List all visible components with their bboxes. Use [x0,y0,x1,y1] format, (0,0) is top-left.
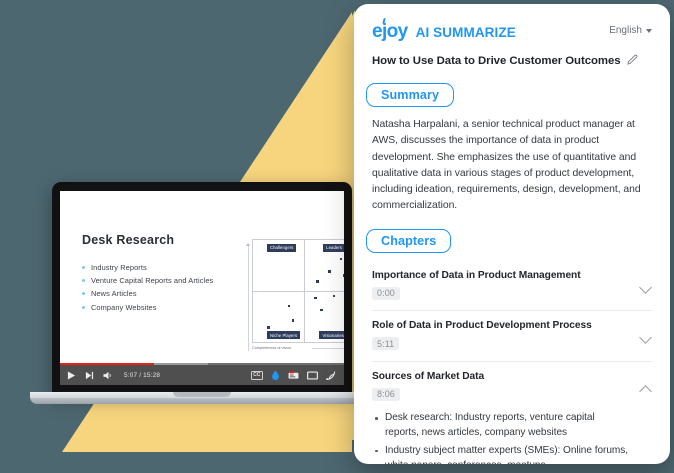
ejoy-logo-text: ejoy [372,21,408,42]
chapter-timestamp[interactable]: 8:06 [372,388,400,401]
settings-icon[interactable] [288,371,299,380]
quadrant-label-visionaries: Visionaries [319,331,344,339]
quadrant-label-leaders: Leaders [323,244,344,252]
chevron-down-icon[interactable] [639,331,652,344]
volume-icon[interactable] [103,371,113,380]
cast-icon[interactable] [326,371,337,380]
laptop-notch [173,392,231,397]
brand: ejoy AI SUMMARIZE [372,22,516,41]
chapter-title: Role of Data in Product Development Proc… [372,320,630,331]
next-track-icon[interactable] [85,371,94,380]
chapter-timestamp[interactable]: 0:00 [372,287,400,300]
theater-mode-icon[interactable] [307,371,318,380]
summary-section: Summary Natasha Harpalani, a senior tech… [372,83,652,215]
chart-data-point [328,270,331,273]
language-selector-label: English [609,25,642,36]
video-title: How to Use Data to Drive Customer Outcom… [372,55,621,67]
chart-x-axis-label: Completeness of vision [252,346,291,350]
captions-icon[interactable]: CC [251,371,263,380]
chart-data-point [340,258,343,261]
chapter-timestamp[interactable]: 5:11 [372,337,399,350]
chapter-bullet: Desk research: Industry reports, venture… [372,411,630,441]
chart-data-point [288,305,291,308]
chevron-down-icon[interactable] [639,281,652,294]
summary-text: Natasha Harpalani, a senior technical pr… [372,117,652,215]
chart-data-point [320,309,323,312]
chart-y-axis [248,245,249,351]
quadrant-label-niche-players: Niche Players [267,331,300,339]
summary-pill[interactable]: Summary [366,83,454,107]
chapter-item[interactable]: Role of Data in Product Development Proc… [372,310,652,361]
pencil-icon[interactable] [627,52,638,70]
chart-data-point [316,280,319,283]
laptop-base [30,392,374,404]
chevron-down-icon [646,29,652,33]
chapter-title: Importance of Data in Product Management [372,270,630,281]
ejoy-logo: ejoy [372,22,408,41]
chart-data-point [343,274,344,277]
video-time-display: 5:07 / 15:28 [124,372,160,379]
chart-data-point [333,295,336,298]
language-selector[interactable]: English [609,22,652,36]
screenshot-stage: Desk Research Industry Reports Venture C… [0,0,674,473]
chevron-up-icon[interactable] [639,385,652,398]
chapters-pill[interactable]: Chapters [366,229,451,253]
laptop-mockup: Desk Research Industry Reports Venture C… [52,182,352,414]
video-player-controls[interactable]: 5:07 / 15:28 CC [60,363,344,385]
ai-summarize-panel: ejoy AI SUMMARIZE English How to Use Dat… [354,4,670,464]
chapters-section: Chapters Importance of Data in Product M… [372,229,652,464]
chart-data-point [267,326,270,329]
chapter-bullet-list: Desk research: Industry reports, venture… [372,411,630,464]
panel-header: ejoy AI SUMMARIZE English [372,4,652,41]
play-icon[interactable] [67,371,76,380]
chapter-title: Sources of Market Data [372,371,630,382]
chapter-bullet: Industry subject matter experts (SMEs): … [372,444,630,464]
chapter-item[interactable]: Sources of Market Data8:06Desk research:… [372,361,652,464]
chart-data-point [292,319,295,322]
chapter-item[interactable]: Importance of Data in Product Management… [372,261,652,311]
panel-title: AI SUMMARIZE [416,25,516,40]
laptop-lid: Desk Research Industry Reports Venture C… [52,182,352,394]
chart-data-point [314,297,317,300]
magic-quadrant-chart: Ability to execute Challengers Leaders N… [238,239,344,357]
chart-x-axis [312,348,344,349]
video-player[interactable]: Desk Research Industry Reports Venture C… [60,191,344,385]
video-slide: Desk Research Industry Reports Venture C… [60,191,344,363]
quadrant-label-challengers: Challengers [267,244,296,252]
chart-plot-area: Challengers Leaders Niche Players Vision… [252,239,344,343]
ejoy-drop-icon[interactable] [271,370,280,380]
chapters-list: Importance of Data in Product Management… [372,261,652,464]
video-title-row: How to Use Data to Drive Customer Outcom… [372,52,652,70]
